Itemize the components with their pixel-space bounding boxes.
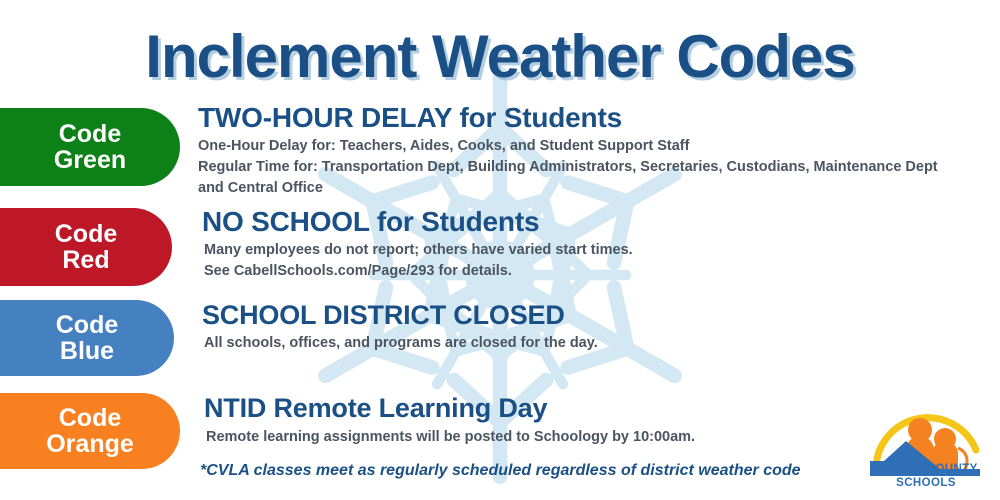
code-pill-blue-line2: Blue <box>56 338 119 365</box>
code-copy-red: NO SCHOOL for Students Many employees do… <box>196 208 1000 282</box>
code-pill-orange-line1: Code <box>46 405 134 432</box>
code-pill-red-line1: Code <box>55 221 118 248</box>
code-heading-red: NO SCHOOL for Students <box>202 206 1000 238</box>
code-pill-orange-line2: Orange <box>46 431 134 458</box>
code-detail-line: and Central Office <box>198 178 1000 199</box>
logo-wordmark-line1: CABELL COUNTY <box>862 462 990 476</box>
code-pill-red[interactable]: Code Red <box>0 208 172 286</box>
logo-wordmark: CABELL COUNTY SCHOOLS <box>862 462 990 491</box>
code-pill-blue[interactable]: Code Blue <box>0 300 174 376</box>
inclement-weather-codes-poster: Inclement Weather Codes Code Green TWO-H… <box>0 0 1000 500</box>
code-details-green: One-Hour Delay for: Teachers, Aides, Coo… <box>198 136 1000 199</box>
code-details-blue: All schools, offices, and programs are c… <box>204 333 1000 354</box>
page-title: Inclement Weather Codes <box>0 22 1000 91</box>
code-pill-green[interactable]: Code Green <box>0 108 180 186</box>
code-copy-green: TWO-HOUR DELAY for Students One-Hour Del… <box>196 108 1000 199</box>
code-copy-blue: SCHOOL DISTRICT CLOSED All schools, offi… <box>196 300 1000 354</box>
code-pill-orange[interactable]: Code Orange <box>0 393 180 469</box>
code-heading-green: TWO-HOUR DELAY for Students <box>198 102 1000 134</box>
code-pill-blue-line1: Code <box>56 312 119 339</box>
code-pill-red-line2: Red <box>55 247 118 274</box>
code-details-red: Many employees do not report; others hav… <box>204 240 1000 282</box>
code-detail-line: Regular Time for: Transportation Dept, B… <box>198 157 1000 178</box>
footnote-cvla: *CVLA classes meet as regularly schedule… <box>200 462 801 480</box>
code-detail-line: One-Hour Delay for: Teachers, Aides, Coo… <box>198 136 1000 157</box>
code-heading-blue: SCHOOL DISTRICT CLOSED <box>202 300 1000 331</box>
code-pill-green-line2: Green <box>54 147 126 174</box>
logo-wordmark-line2: SCHOOLS <box>862 476 990 490</box>
code-detail-line: All schools, offices, and programs are c… <box>204 333 1000 354</box>
code-pill-green-line1: Code <box>54 121 126 148</box>
code-detail-line: See CabellSchools.com/Page/293 for detai… <box>204 261 1000 282</box>
code-detail-line: Many employees do not report; others hav… <box>204 240 1000 261</box>
